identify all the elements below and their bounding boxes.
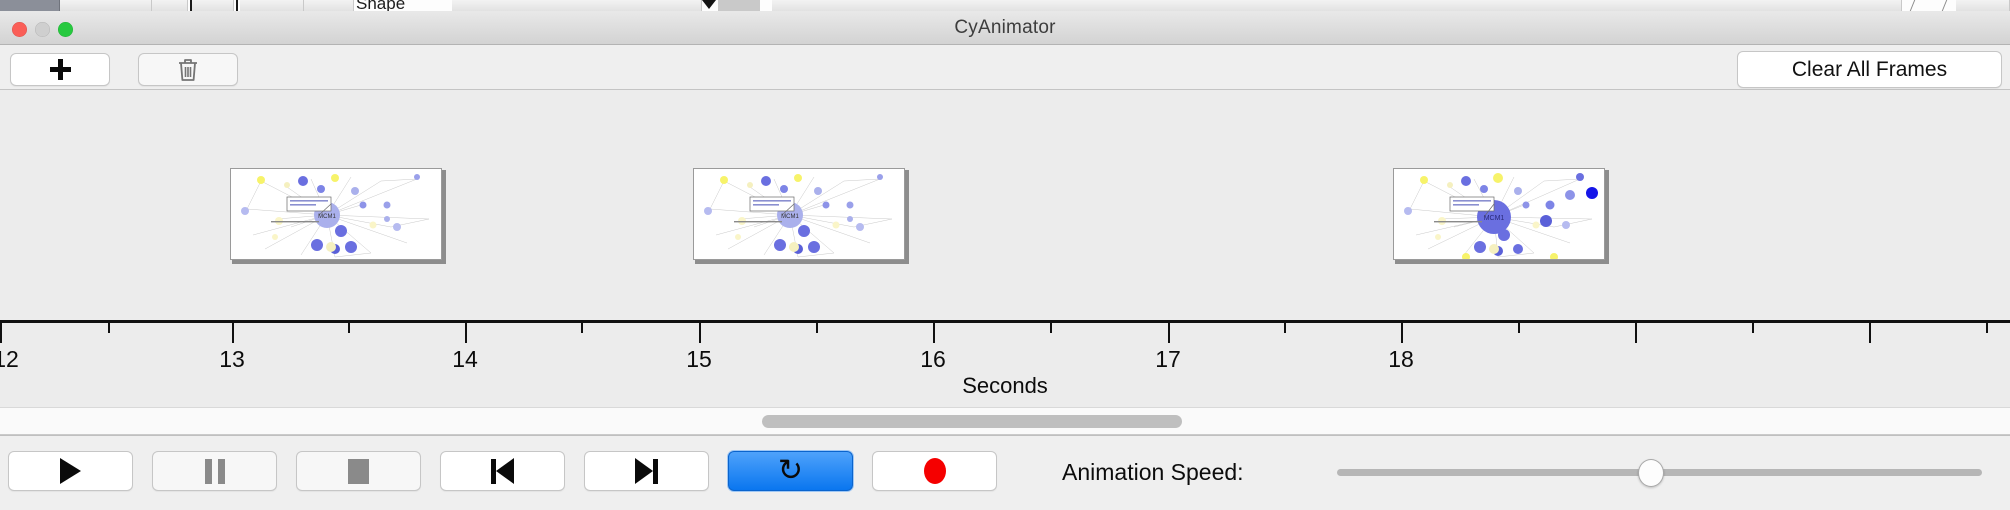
delete-frame-button[interactable] xyxy=(138,53,238,86)
axis-tick-label: 16 xyxy=(920,346,946,373)
clear-all-frames-button[interactable]: Clear All Frames xyxy=(1737,51,2002,88)
animation-speed-slider-thumb[interactable] xyxy=(1638,459,1664,487)
axis-tick-label: 14 xyxy=(452,346,478,373)
frame-thumbnail[interactable]: MCM1 xyxy=(230,168,442,260)
play-button[interactable] xyxy=(8,451,133,491)
horizontal-scrollbar[interactable] xyxy=(0,407,2010,435)
record-button[interactable] xyxy=(872,451,997,491)
background-window-label: Shape xyxy=(356,0,405,11)
window-title: CyAnimator xyxy=(0,11,2010,45)
axis-tick-label: 17 xyxy=(1155,346,1181,373)
stop-icon xyxy=(348,459,369,484)
axis-tick-label: 12 xyxy=(0,346,19,373)
scrollbar-thumb[interactable] xyxy=(762,415,1182,428)
axis-tick-label: 18 xyxy=(1388,346,1414,373)
pause-icon xyxy=(205,459,225,484)
timeline-axis xyxy=(0,320,2010,323)
skip-end-button[interactable] xyxy=(584,451,709,491)
trash-icon xyxy=(177,57,199,83)
playback-control-bar: ↻ Animation Speed: xyxy=(0,435,2010,510)
loop-icon: ↻ xyxy=(778,456,803,486)
animation-speed-label: Animation Speed: xyxy=(1062,459,1244,486)
cyanimator-window: Shape CyAnimator Clear All Frames xyxy=(0,0,2010,510)
axis-tick-label: 15 xyxy=(686,346,712,373)
background-window-strip: Shape xyxy=(0,0,2010,11)
svg-text:MCM1: MCM1 xyxy=(781,214,799,220)
loop-button[interactable]: ↻ xyxy=(728,451,853,491)
network-preview: MCM1 xyxy=(694,169,905,260)
svg-text:MCM1: MCM1 xyxy=(1484,215,1505,222)
pause-button[interactable] xyxy=(152,451,277,491)
play-icon xyxy=(60,458,81,484)
svg-text:MCM1: MCM1 xyxy=(318,214,336,220)
skip-start-icon xyxy=(491,458,514,484)
clear-all-frames-label: Clear All Frames xyxy=(1792,58,1947,82)
record-icon xyxy=(924,458,946,484)
network-preview: MCM1 xyxy=(1394,169,1605,260)
skip-start-button[interactable] xyxy=(440,451,565,491)
axis-tick-label: 13 xyxy=(219,346,245,373)
plus-icon xyxy=(50,59,71,80)
axis-title: Seconds xyxy=(0,373,2010,399)
title-bar: CyAnimator xyxy=(0,11,2010,45)
frame-thumbnail[interactable]: MCM1 xyxy=(1393,168,1605,260)
timeline-panel[interactable]: MCM1 xyxy=(0,90,2010,407)
toolbar: Clear All Frames xyxy=(0,45,2010,90)
skip-end-icon xyxy=(635,458,658,484)
network-preview: MCM1 xyxy=(231,169,442,260)
frame-thumbnail[interactable]: MCM1 xyxy=(693,168,905,260)
stop-button[interactable] xyxy=(296,451,421,491)
add-frame-button[interactable] xyxy=(10,53,110,86)
